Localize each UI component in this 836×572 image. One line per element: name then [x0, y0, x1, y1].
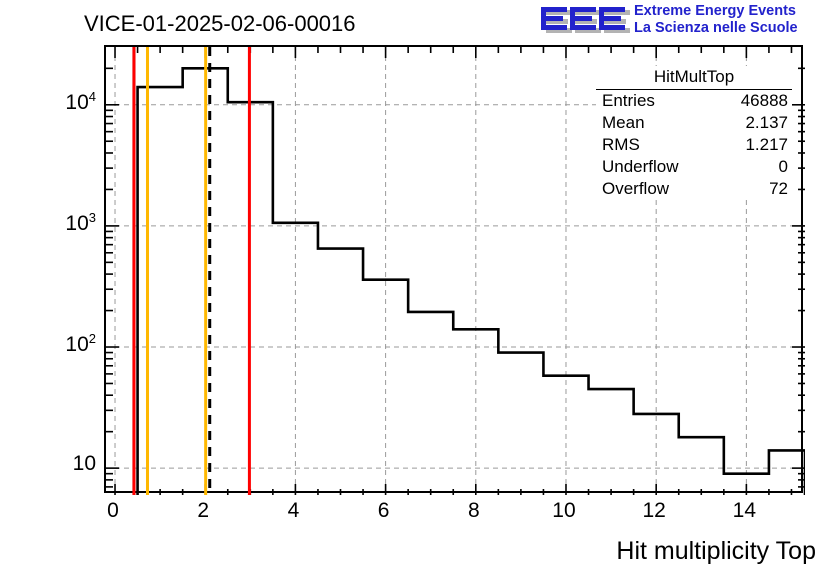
y-tick-label: 104: [12, 89, 96, 115]
y-tick-base: 10: [65, 333, 88, 356]
x-tick-label: 4: [263, 499, 323, 523]
y-tick-label: 103: [12, 210, 96, 236]
stats-row: Underflow0: [596, 156, 792, 178]
y-tick-label: 102: [12, 331, 96, 357]
x-axis-title: Hit multiplicity Top: [616, 537, 816, 566]
stats-row: Entries46888: [596, 90, 792, 112]
stats-row-value: 0: [779, 157, 788, 177]
y-tick-exponent: 3: [89, 210, 96, 225]
stats-row-value: 46888: [741, 91, 788, 111]
stats-row-value: 1.217: [745, 135, 788, 155]
eee-logo: Extreme Energy Events La Scienza nelle S…: [540, 2, 836, 42]
x-tick-label: 14: [714, 499, 774, 523]
stats-row-key: Entries: [602, 91, 655, 111]
stats-row-key: RMS: [602, 135, 640, 155]
root-canvas: VICE-01-2025-02-06-00016: [0, 0, 836, 572]
stats-box: HitMultTop Entries46888Mean2.137RMS1.217…: [596, 66, 792, 200]
y-tick-base: 10: [65, 91, 88, 114]
stats-row-key: Overflow: [602, 179, 669, 199]
eee-logo-text: Extreme Energy Events La Scienza nelle S…: [634, 3, 798, 37]
eee-logo-line1: Extreme Energy Events: [634, 3, 798, 20]
stats-row-value: 72: [769, 179, 788, 199]
stats-row-key: Underflow: [602, 157, 679, 177]
stats-row-value: 2.137: [745, 113, 788, 133]
stats-box-rows: Entries46888Mean2.137RMS1.217Underflow0O…: [596, 90, 792, 200]
x-tick-label: 0: [83, 499, 143, 523]
eee-logo-mark-icon: [540, 5, 630, 37]
x-tick-label: 6: [354, 499, 414, 523]
x-tick-label: 10: [534, 499, 594, 523]
y-tick-exponent: 2: [89, 331, 96, 346]
y-tick-exponent: 4: [89, 89, 96, 104]
y-tick-label: 10: [12, 452, 96, 476]
eee-logo-line2: La Scienza nelle Scuole: [634, 20, 798, 37]
stats-row: RMS1.217: [596, 134, 792, 156]
stats-box-title: HitMultTop: [596, 66, 792, 90]
stats-row: Mean2.137: [596, 112, 792, 134]
x-tick-label: 12: [624, 499, 684, 523]
x-tick-label: 8: [444, 499, 504, 523]
x-tick-label: 2: [173, 499, 233, 523]
page-title: VICE-01-2025-02-06-00016: [84, 11, 356, 37]
y-tick-base: 10: [65, 212, 88, 235]
stats-row: Overflow72: [596, 178, 792, 200]
stats-row-key: Mean: [602, 113, 645, 133]
